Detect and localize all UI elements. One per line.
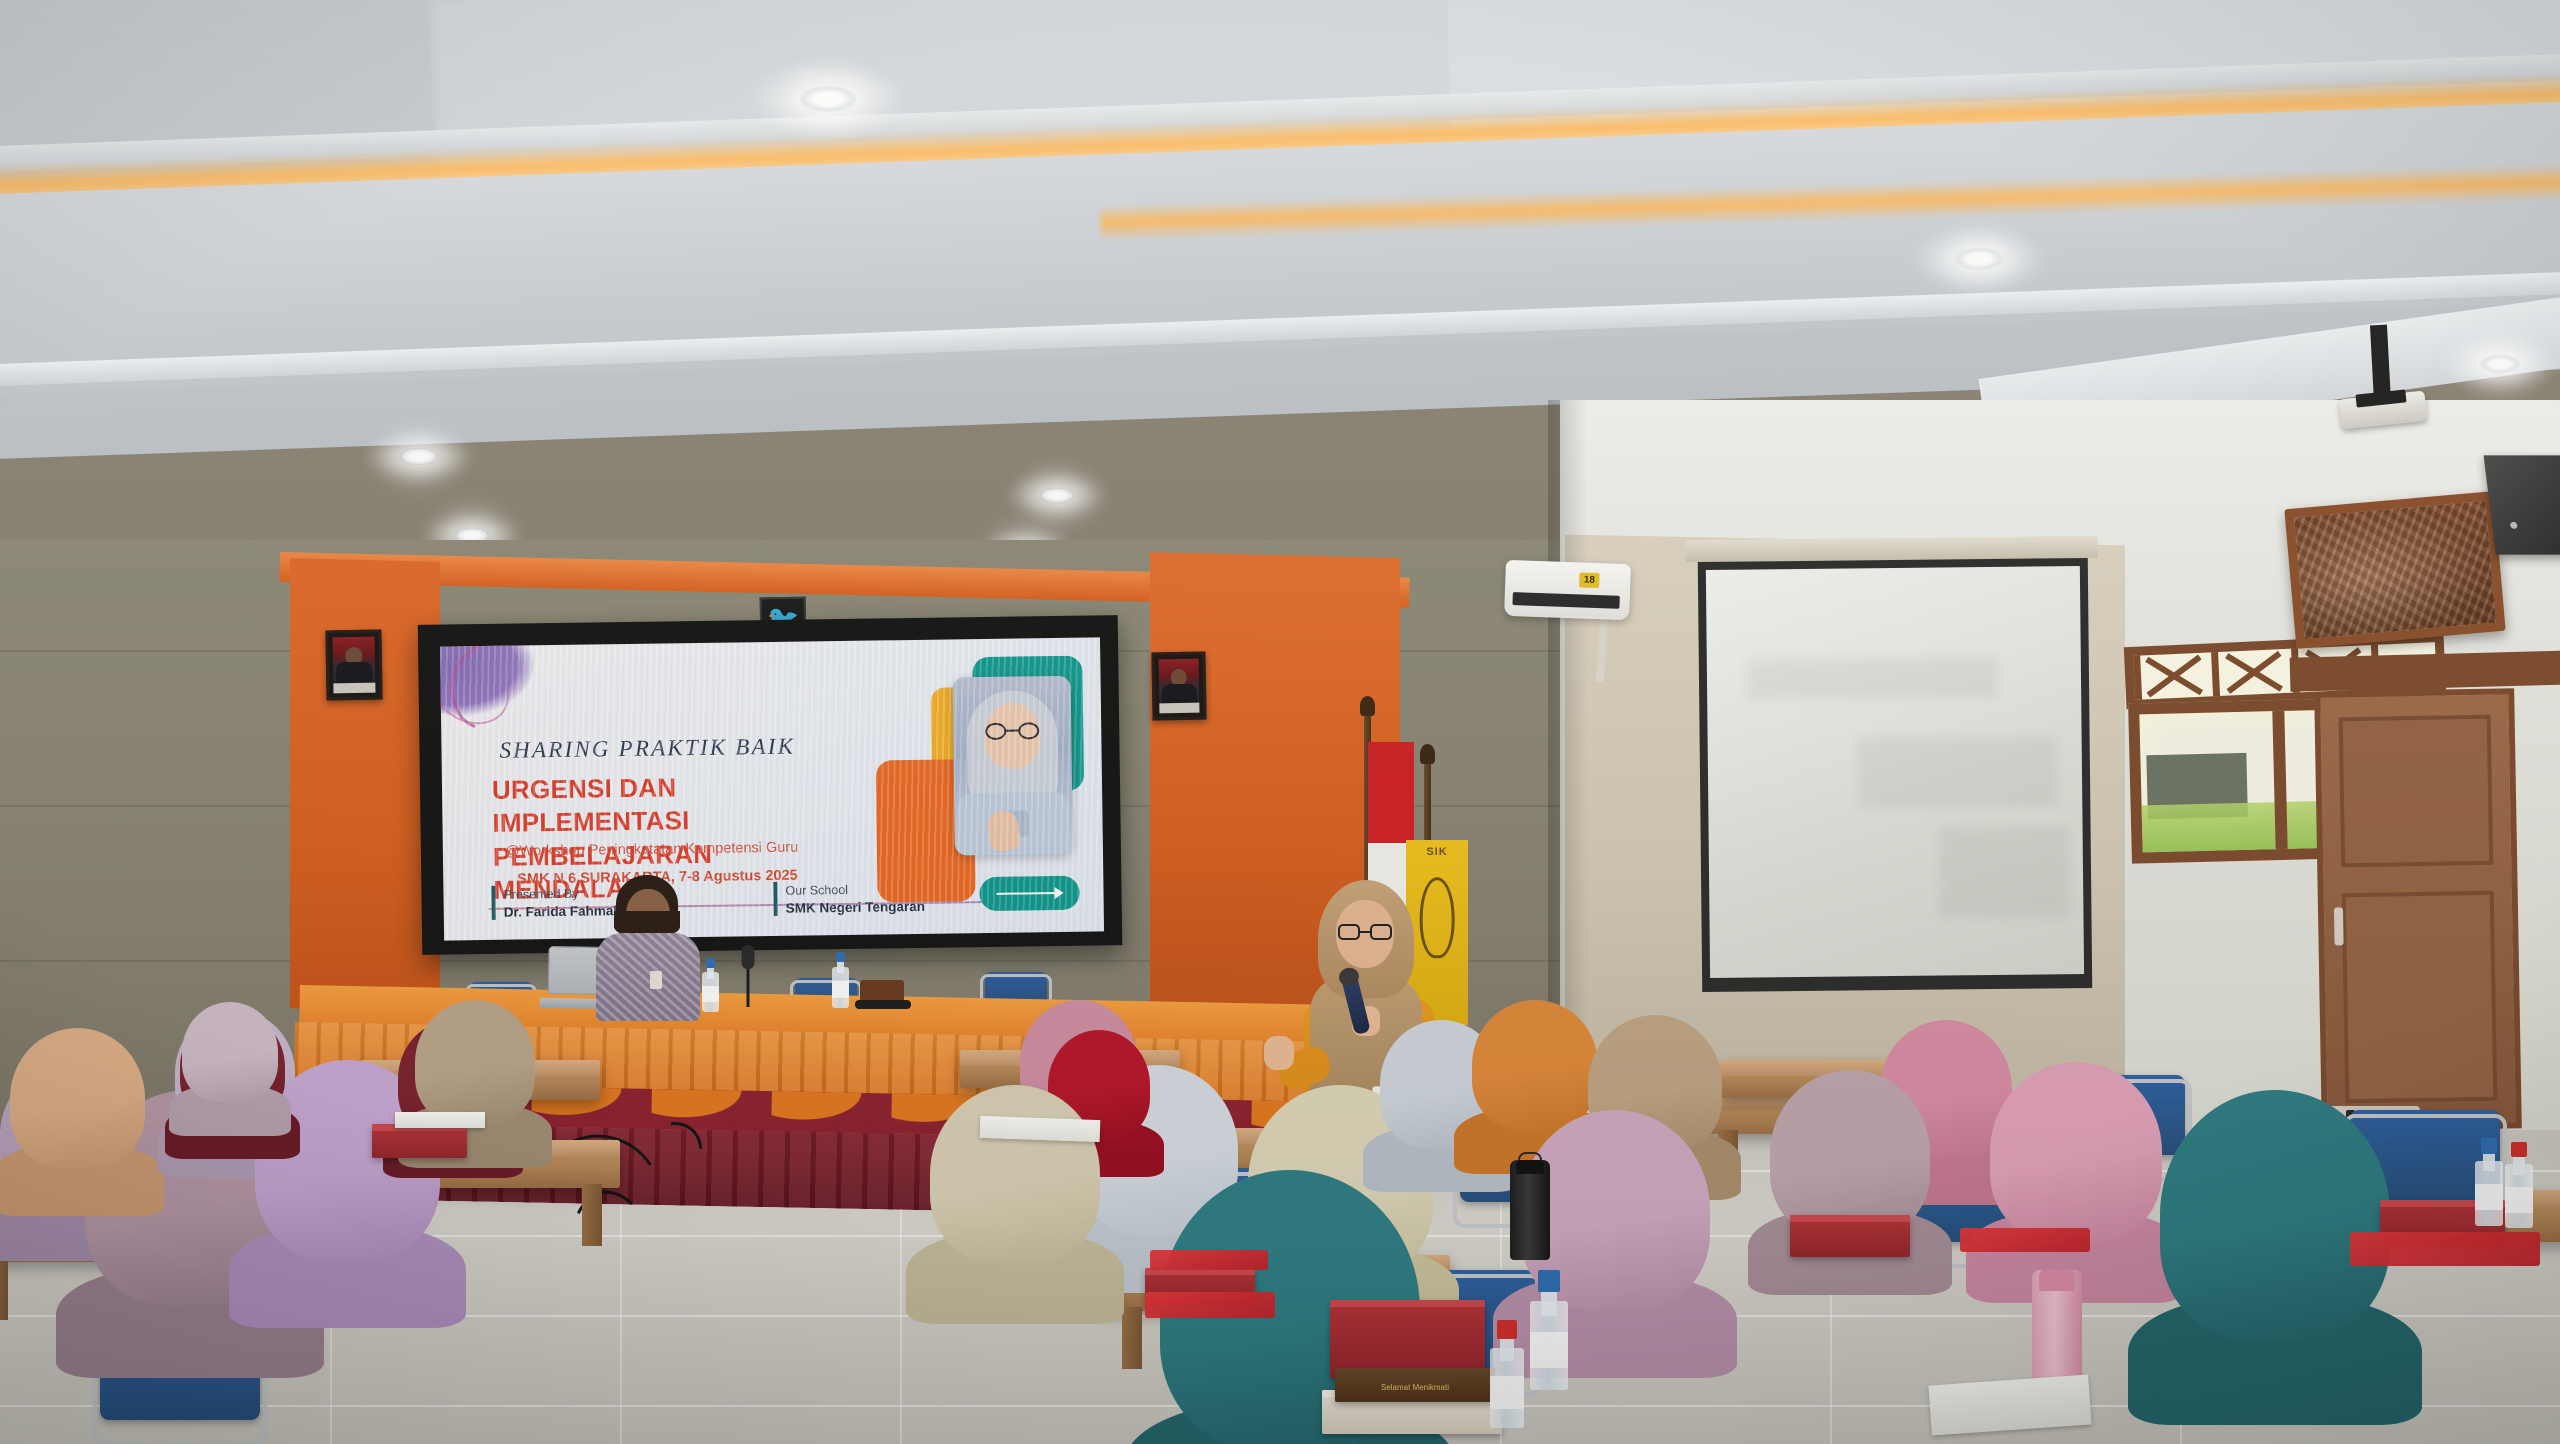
audience-member [415, 1000, 535, 1125]
audience-member [2160, 1090, 2390, 1340]
audience-member [1770, 1070, 1930, 1238]
audience-member [1990, 1062, 2162, 1242]
paper-stack [395, 1112, 485, 1128]
ac-label: 18 [1579, 572, 1600, 588]
next-arrow-icon [979, 876, 1079, 911]
ceiling-downlight [2480, 355, 2520, 373]
snack-box [1790, 1215, 1910, 1257]
slide-eyebrow: SHARING PRAKTIK BAIK [499, 734, 795, 764]
water-bottle [2475, 1138, 2503, 1226]
snack-box-text: Selamat Menikmati [1341, 1383, 1489, 1392]
ceiling-downlight [1955, 248, 2003, 270]
seated-presenter [588, 875, 708, 1015]
red-plastic-bag [1145, 1292, 1275, 1318]
wall-portrait-left [325, 630, 382, 701]
door-lintel [2290, 650, 2560, 692]
flag-text: SIK [1406, 846, 1468, 858]
slide-title-line1: URGENSI DAN IMPLEMENTASI [492, 769, 863, 841]
snack-box [372, 1124, 467, 1158]
ceiling-downlight [400, 448, 438, 465]
red-plastic-bag [1960, 1228, 2090, 1252]
water-bottle [1530, 1270, 1568, 1390]
audience-member [10, 1028, 145, 1168]
paper-stack [980, 1116, 1101, 1142]
ceiling-downlight [800, 86, 856, 112]
audience-member [930, 1085, 1100, 1263]
water-bottle [1490, 1320, 1524, 1428]
table-microphone [740, 945, 756, 1007]
name-tag [650, 971, 662, 989]
snack-box: Selamat Menikmati [1335, 1368, 1495, 1402]
front-projection-screen: SHARING PRAKTIK BAIK URGENSI DAN IMPLEME… [418, 615, 1123, 955]
wooden-door[interactable] [2314, 688, 2522, 1131]
air-conditioner: 18 [1504, 560, 1631, 620]
glasses-icon [1338, 924, 1392, 940]
slide-our-school: Our School SMK Negeri Tengaran [773, 880, 925, 918]
ceiling-downlight [1040, 488, 1074, 503]
presentation-slide: SHARING PRAKTIK BAIK URGENSI DAN IMPLEME… [440, 637, 1104, 940]
water-bottle [2505, 1142, 2533, 1228]
red-plastic-bag [2350, 1232, 2540, 1266]
glasses-icon [985, 722, 1039, 740]
table-puck [855, 1000, 911, 1009]
photo-scene: 🐦 SHARING PRAKTIK BAIK URGENSI DAN IMPLE… [0, 0, 2560, 1444]
audience-member [182, 1002, 278, 1102]
our-school-name: SMK Negeri Tengaran [786, 898, 926, 917]
wood-relief-panel [2284, 491, 2505, 649]
door-handle[interactable] [2334, 907, 2344, 945]
red-plastic-bag [1150, 1250, 1268, 1270]
slide-portrait-photo [953, 676, 1073, 856]
wall-portrait-right [1151, 652, 1206, 721]
wall-speaker [2484, 455, 2560, 554]
thermos-bottle [1510, 1160, 1550, 1260]
snack-box [1330, 1300, 1485, 1378]
roll-down-projector-screen[interactable] [1698, 558, 2092, 992]
our-school-label: Our School [785, 880, 925, 900]
water-bottle [832, 952, 849, 1008]
